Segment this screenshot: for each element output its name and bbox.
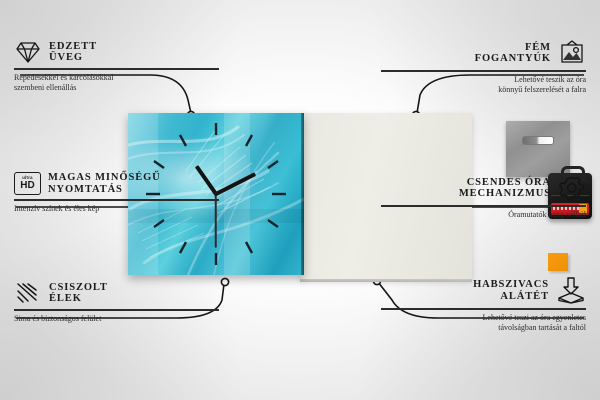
feature-title: FÉM FOGANTYÚK: [475, 42, 551, 65]
metal-hanger-plate: [506, 121, 570, 177]
feature-title-line1: MAGAS MINŐSÉGŰ: [48, 172, 161, 183]
glass-edge: [301, 113, 304, 275]
feature-title-line2: MECHANIZMUS: [459, 188, 551, 199]
feature-title-line1: CSISZOLT: [49, 282, 108, 293]
feature-title-line2: ALÁTÉT: [473, 291, 549, 302]
feature-heading: CSISZOLT ÉLEK: [14, 281, 219, 305]
feature-divider: [14, 309, 219, 311]
feature-description: Repedésekkel és karcolásokkal szembeni e…: [14, 73, 219, 95]
feature-title: MAGAS MINŐSÉGŰ NYOMTATÁS: [48, 172, 161, 195]
foam-pad-arrow-icon: [556, 277, 586, 304]
feature-description: Lehetővé teszik az óra könnyű felszerelé…: [381, 75, 586, 97]
feature-title-line2: NYOMTATÁS: [48, 184, 161, 195]
feature-heading: EDZETT ÜVEG: [14, 40, 219, 64]
foam-pad: [548, 253, 568, 271]
feature-metal-handles: FÉM FOGANTYÚK Lehetővé teszik az óra kön…: [381, 40, 586, 96]
ultra-hd-icon: ultra HD: [14, 172, 41, 195]
picture-frame-hanger-icon: [558, 40, 586, 66]
diamond-icon: [14, 40, 42, 64]
feature-divider: [381, 70, 586, 72]
feature-description: Lehetővé teszi az óra egyenletes távolsá…: [381, 313, 586, 335]
feature-heading: FÉM FOGANTYÚK: [381, 40, 586, 66]
infographic-canvas: EDZETT ÜVEG Repedésekkel és karcolásokka…: [0, 0, 600, 400]
hanger-slot: [522, 136, 554, 145]
feature-title-line2: FOGANTYÚK: [475, 53, 551, 64]
feature-description: Sima és biztonságos felület: [14, 314, 219, 325]
feature-title-line1: CSENDES ÓRA: [459, 177, 551, 188]
feature-divider: [14, 199, 219, 201]
feature-heading: CSENDES ÓRA MECHANIZMUS: [381, 175, 586, 201]
feature-divider: [14, 68, 219, 70]
feature-description: Intenzív színek és éles kép: [14, 204, 219, 215]
feature-title-line1: FÉM: [475, 42, 551, 53]
feature-divider: [381, 205, 586, 207]
feature-title: CSISZOLT ÉLEK: [49, 282, 108, 305]
feature-description: Óramutatók hang nélkül: [381, 210, 586, 221]
feature-silent-mechanism: CSENDES ÓRA MECHANIZMUS Óramutatók hang …: [381, 175, 586, 220]
feature-title-line2: ÜVEG: [49, 52, 97, 63]
feature-title: CSENDES ÓRA MECHANIZMUS: [459, 177, 551, 200]
ultra-hd-icon-large-text: HD: [20, 181, 34, 191]
feature-high-quality-print: ultra HD MAGAS MINŐSÉGŰ NYOMTATÁS Intenz…: [14, 172, 219, 214]
feature-title-line1: HABSZIVACS: [473, 279, 549, 290]
feature-heading: HABSZIVACS ALÁTÉT: [381, 277, 586, 304]
feature-divider: [381, 308, 586, 310]
gear-icon: [558, 175, 586, 201]
feature-title: EDZETT ÜVEG: [49, 41, 97, 64]
polished-edges-icon: [14, 281, 42, 305]
feature-title-line1: EDZETT: [49, 41, 97, 52]
feature-tempered-glass: EDZETT ÜVEG Repedésekkel és karcolásokka…: [14, 40, 219, 94]
feature-foam-pad: HABSZIVACS ALÁTÉT Lehetővé teszi az óra …: [381, 277, 586, 334]
feature-title: HABSZIVACS ALÁTÉT: [473, 279, 549, 302]
feature-title-line2: ÉLEK: [49, 293, 108, 304]
feature-polished-edges: CSISZOLT ÉLEK Sima és biztonságos felüle…: [14, 281, 219, 324]
feature-heading: ultra HD MAGAS MINŐSÉGŰ NYOMTATÁS: [14, 172, 219, 195]
